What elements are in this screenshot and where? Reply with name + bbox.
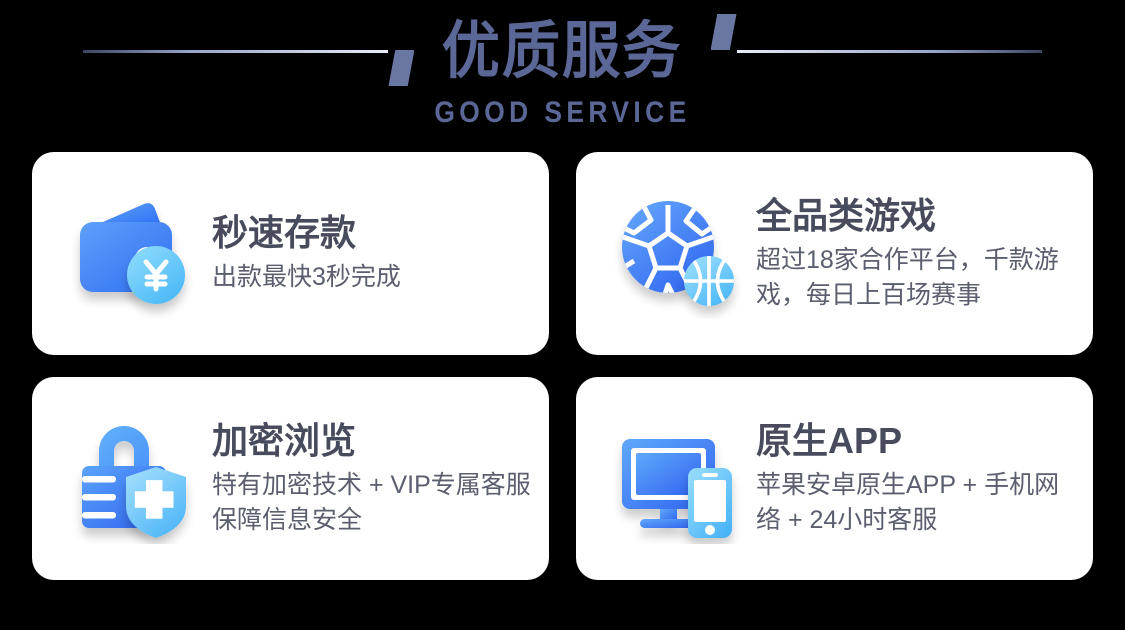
slash-left-icon (388, 50, 414, 86)
card-description: 苹果安卓原生APP + 手机网络 + 24小时客服 (756, 468, 1075, 537)
card-description: 超过18家合作平台，千款游戏，每日上百场赛事 (756, 243, 1075, 312)
card-title: 加密浏览 (212, 420, 531, 461)
feature-card-native-app[interactable]: 原生APP 苹果安卓原生APP + 手机网络 + 24小时客服 (576, 377, 1093, 580)
card-text: 加密浏览 特有加密技术 + VIP专属客服保障信息安全 (208, 420, 531, 537)
card-title: 原生APP (756, 420, 1075, 461)
rule-left (83, 50, 388, 53)
card-description: 出款最快3秒完成 (212, 260, 531, 295)
page-root: 优质服务 GOOD SERVICE (0, 0, 1125, 630)
monitor-phone-icon (602, 404, 752, 554)
feature-card-encryption[interactable]: 加密浏览 特有加密技术 + VIP专属客服保障信息安全 (32, 377, 549, 580)
page-title: 优质服务 (425, 21, 699, 83)
card-title: 秒速存款 (212, 212, 531, 253)
title-row: 优质服务 (0, 8, 1125, 96)
decorative-line-left (51, 22, 416, 82)
card-description: 特有加密技术 + VIP专属客服保障信息安全 (212, 468, 531, 537)
page-subtitle: GOOD SERVICE (68, 96, 1058, 130)
card-text: 原生APP 苹果安卓原生APP + 手机网络 + 24小时客服 (752, 420, 1075, 537)
page-header: 优质服务 GOOD SERVICE (0, 0, 1125, 145)
slash-right-icon (711, 14, 737, 50)
features-grid: 秒速存款 出款最快3秒完成 (32, 152, 1093, 602)
feature-card-deposit[interactable]: 秒速存款 出款最快3秒完成 (32, 152, 549, 355)
soccer-basketball-icon (602, 179, 752, 329)
card-text: 秒速存款 出款最快3秒完成 (208, 212, 531, 295)
decorative-line-right (709, 22, 1074, 82)
feature-card-games[interactable]: 全品类游戏 超过18家合作平台，千款游戏，每日上百场赛事 (576, 152, 1093, 355)
card-text: 全品类游戏 超过18家合作平台，千款游戏，每日上百场赛事 (752, 195, 1075, 312)
rule-right (737, 50, 1042, 53)
card-title: 全品类游戏 (756, 195, 1075, 236)
wallet-yen-icon (58, 179, 208, 329)
lock-shield-icon (58, 404, 208, 554)
